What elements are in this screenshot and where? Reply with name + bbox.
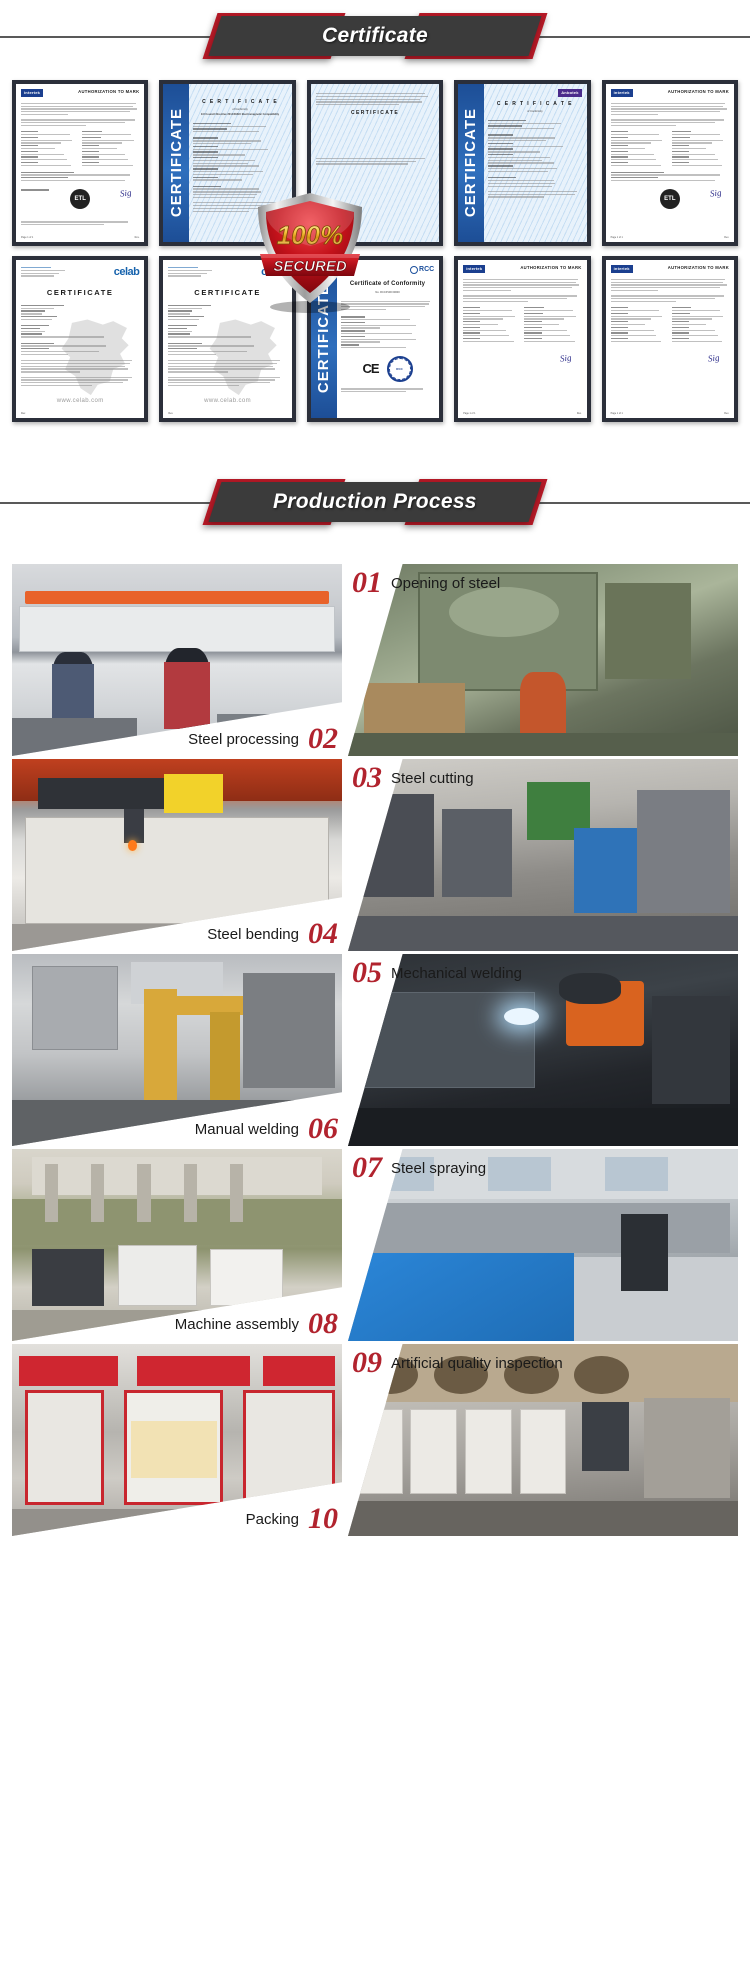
cert-field-lines-8 — [341, 316, 434, 348]
banner-bottom-spacer — [0, 538, 750, 564]
process-step-text-05: Mechanical welding — [391, 965, 522, 982]
process-step-number-02: 02 — [308, 724, 338, 754]
process-step-number-03: 03 — [352, 763, 382, 793]
cert-two-column-9 — [463, 307, 581, 343]
process-step-text-03: Steel cutting — [391, 770, 474, 787]
process-step-text-02: Steel processing — [188, 731, 299, 748]
cert-body-lines-1d — [21, 221, 139, 225]
cert-note-4 — [488, 191, 581, 198]
cert-field-lines-2 — [193, 123, 286, 133]
process-step-number-07: 07 — [352, 1153, 382, 1183]
process-row-2: 03 Steel cutting Steel bending 04 — [12, 759, 738, 951]
cert-footer-1: Page 1 of 1Rev. — [21, 236, 139, 239]
process-step-number-01: 01 — [352, 568, 382, 598]
cert-footer-10: Page 1 of 1Rev. — [611, 412, 729, 415]
certificate-banner-title: Certificate — [322, 24, 428, 48]
banner-shape: Certificate — [210, 13, 540, 59]
cert-two-column-10 — [611, 307, 729, 343]
celab-url-watermark-6: www.celab.com — [16, 397, 144, 406]
cert-sidebar-text-4: CERTIFICATE — [460, 108, 482, 217]
cert-note-6b — [21, 377, 139, 387]
certificate-grid: intertek AUTHORIZATION TO MARK — [0, 72, 750, 422]
process-step-number-06: 06 — [308, 1114, 338, 1144]
process-step-label-10: Packing 10 — [12, 1502, 352, 1536]
cert-subtitle-2: of Conformity — [193, 108, 286, 112]
process-step-number-09: 09 — [352, 1348, 382, 1378]
production-banner-dark-plate: Production Process — [209, 482, 542, 522]
rcc-logo-8: RCC — [410, 265, 434, 275]
certificate-thumb-intertek-1[interactable]: intertek AUTHORIZATION TO MARK — [12, 80, 148, 246]
etl-seal-1: ETL — [70, 189, 90, 209]
anbotek-logo-4: Anbotek — [558, 89, 581, 97]
cert-body-lines-5c — [611, 172, 729, 182]
process-row-5: 09 Artificial quality inspection Packing… — [12, 1344, 738, 1536]
cert-body-lines-5 — [611, 103, 729, 115]
cert-header-right-5: AUTHORIZATION TO MARK — [668, 89, 729, 95]
cert-title-6: CERTIFICATE — [21, 288, 139, 299]
process-step-text-01: Opening of steel — [391, 575, 500, 592]
badge-percent-text: 100% — [277, 220, 344, 250]
celab-logo-6: celab — [114, 265, 140, 281]
cert-title-4: C E R T I F I C A T E — [488, 101, 581, 108]
production-section-banner: Production Process — [0, 466, 750, 538]
cert-signature-area-10: Sig — [611, 352, 729, 376]
intertek-logo-5: intertek — [611, 89, 633, 97]
cert-body-lines-3b — [316, 158, 434, 165]
process-step-text-07: Steel spraying — [391, 1160, 486, 1177]
cert-subtitle-4: of Conformity — [488, 110, 581, 114]
cert-header-right-10: AUTHORIZATION TO MARK — [668, 265, 729, 271]
secured-shield-badge: 100% SECURED — [252, 190, 368, 314]
process-row-3: 05 Mechanical welding Manual welding 06 — [12, 954, 738, 1146]
intertek-logo-1: intertek — [21, 89, 43, 97]
cert-header-right-1: AUTHORIZATION TO MARK — [78, 89, 139, 95]
cert-footer-7: Rev. — [168, 412, 286, 415]
cert-signature-area-1: Sig ETL — [21, 189, 139, 219]
certificate-row-1: intertek AUTHORIZATION TO MARK — [12, 80, 738, 246]
intertek-logo-10: intertek — [611, 265, 633, 273]
process-step-label-06: Manual welding 06 — [12, 1112, 352, 1146]
badge-secured-text: SECURED — [273, 258, 347, 275]
process-step-label-05: 05 Mechanical welding — [352, 956, 522, 990]
ce-mark-icon-8: CE — [362, 360, 378, 379]
cert-standards-4 — [488, 177, 581, 187]
signature-mark-10: Sig — [707, 351, 720, 365]
process-step-text-04: Steel bending — [207, 926, 299, 943]
cert-note-7b — [168, 377, 286, 387]
intertek-logo-9: intertek — [463, 265, 485, 273]
process-step-number-05: 05 — [352, 958, 382, 988]
cert-footer-9: Page 1 of 1Rev. — [463, 412, 581, 415]
cert-marks-8: CE RCC — [341, 356, 434, 382]
cert-signature-area-5: Sig ETL — [611, 189, 729, 219]
cert-body-lines-9 — [463, 279, 581, 291]
cert-header-right-9: AUTHORIZATION TO MARK — [520, 265, 581, 271]
cert-field-lines-6 — [21, 305, 139, 320]
cert-body-lines-10b — [611, 295, 729, 302]
certificate-thumb-intertek-9[interactable]: intertek AUTHORIZATION TO MARK — [454, 256, 590, 422]
process-step-text-10: Packing — [246, 1511, 299, 1528]
process-step-label-02: Steel processing 02 — [12, 722, 352, 756]
certificate-thumb-intertek-5[interactable]: intertek AUTHORIZATION TO MARK — [602, 80, 738, 246]
signature-mark-5: Sig — [709, 187, 722, 201]
cert-title-3: CERTIFICATE — [316, 110, 434, 117]
banner-dark-plate: Certificate — [209, 16, 542, 56]
production-process-grid: 01 Opening of steel Steel processing 02 — [0, 564, 750, 1536]
process-step-label-09: 09 Artificial quality inspection — [352, 1346, 563, 1380]
conformity-seal-8: RCC — [387, 356, 413, 382]
process-step-label-04: Steel bending 04 — [12, 917, 352, 951]
cert-directive-2: EU Council Directive 2014/30/EU Electrom… — [193, 113, 286, 117]
process-step-number-04: 04 — [308, 919, 338, 949]
cert-footer-lines-8 — [341, 388, 434, 392]
cert-field-lines-2b — [193, 137, 286, 180]
etl-seal-5: ETL — [660, 189, 680, 209]
cert-body-lines-1c — [21, 172, 139, 182]
signature-mark-9: Sig — [559, 351, 572, 365]
cert-field-lines-6c — [21, 343, 139, 355]
cert-field-lines-6b — [21, 325, 139, 337]
process-row-1: 01 Opening of steel Steel processing 02 — [12, 564, 738, 756]
cert-title-2: C E R T I F I C A T E — [193, 99, 286, 106]
cert-blue-sidebar-2: CERTIFICATE — [163, 84, 189, 242]
certificate-thumb-intertek-10[interactable]: intertek AUTHORIZATION TO MARK — [602, 256, 738, 422]
celab-url-watermark-7: www.celab.com — [163, 397, 291, 406]
production-banner-shape: Production Process — [210, 479, 540, 525]
cert-blue-sidebar-4: CERTIFICATE — [458, 84, 484, 242]
cert-footer-5: Page 1 of 1Rev. — [611, 236, 729, 239]
process-step-label-01: 01 Opening of steel — [352, 566, 500, 600]
process-step-text-09: Artificial quality inspection — [391, 1355, 563, 1372]
cert-note-7 — [168, 360, 286, 372]
cert-body-lines-5b — [611, 119, 729, 126]
certificate-thumb-celab-6[interactable]: celab CERTIFICATE — [12, 256, 148, 422]
process-step-text-08: Machine assembly — [175, 1316, 299, 1333]
cert-sidebar-text-2: CERTIFICATE — [166, 108, 188, 217]
section-spacer — [0, 432, 750, 466]
cert-field-lines-4 — [488, 120, 581, 130]
process-step-label-07: 07 Steel spraying — [352, 1151, 486, 1185]
process-step-number-08: 08 — [308, 1309, 338, 1339]
cert-body-lines-9b — [463, 295, 581, 302]
cert-body-lines-1b — [21, 119, 139, 126]
signature-mark-1: Sig — [119, 187, 132, 201]
cert-field-lines-7b — [168, 325, 286, 337]
process-step-label-03: 03 Steel cutting — [352, 761, 474, 795]
certificate-thumb-anbotek-4[interactable]: CERTIFICATE Anbotek C E R T I F I C A T … — [454, 80, 590, 246]
certificate-row-2: celab CERTIFICATE — [12, 256, 738, 422]
cert-body-lines-10 — [611, 279, 729, 291]
cert-field-lines-4b — [488, 134, 581, 172]
process-row-4: 07 Steel spraying Machine assembly 08 — [12, 1149, 738, 1341]
cert-field-lines-7c — [168, 343, 286, 355]
cert-body-lines-1 — [21, 103, 139, 115]
process-step-number-10: 10 — [308, 1504, 338, 1534]
cert-footer-6: Rev. — [21, 412, 139, 415]
production-banner-title: Production Process — [273, 490, 477, 514]
cert-signature-area-9: Sig — [463, 352, 581, 376]
cert-two-column-5 — [611, 131, 729, 167]
cert-body-lines-3 — [316, 93, 434, 105]
globe-icon — [410, 266, 418, 274]
certificate-section-banner: Certificate — [0, 0, 750, 72]
process-step-text-06: Manual welding — [195, 1121, 299, 1138]
cert-two-column-1 — [21, 131, 139, 167]
process-step-label-08: Machine assembly 08 — [12, 1307, 352, 1341]
cert-note-6 — [21, 360, 139, 372]
